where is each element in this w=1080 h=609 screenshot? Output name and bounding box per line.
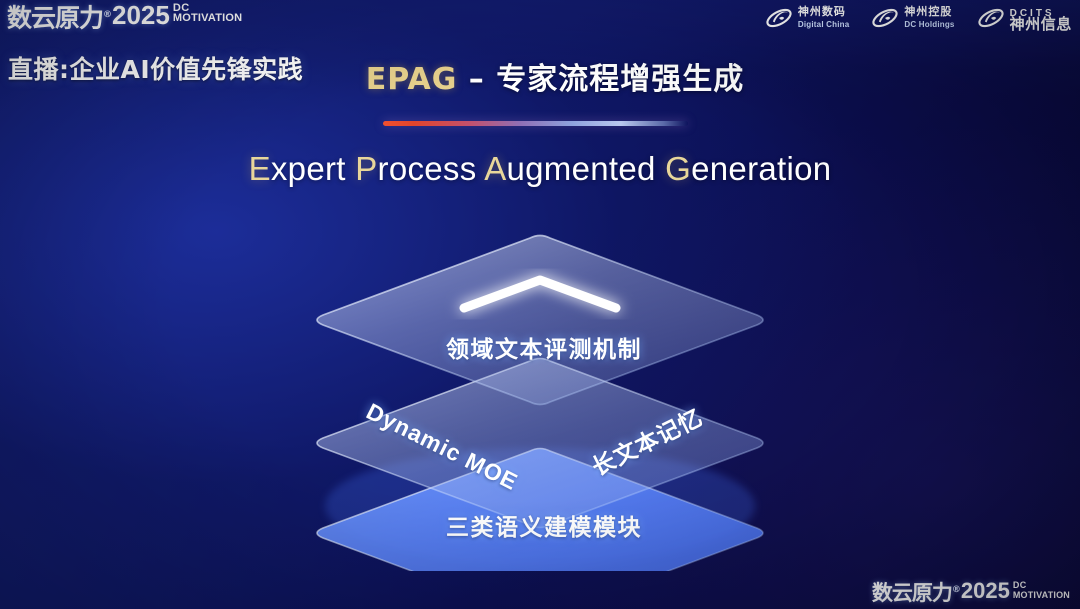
watermark-year: 2025 [961, 579, 1010, 602]
brand-dc-motivation: DC MOTIVATION [173, 3, 242, 23]
subtitle-body: eneration [691, 150, 831, 187]
logo-digital-china: 神州数码 Digital China [765, 4, 850, 32]
subtitle-body: ugmented [507, 150, 666, 187]
layer-bottom-label: 三类语义建模模块 [446, 508, 642, 542]
footer-watermark: 数云原力® 2025 DC MOTIVATION [872, 579, 1070, 605]
subtitle-body: xpert [271, 150, 355, 187]
logo-text-group: 神州控股 DC Holdings [904, 6, 954, 30]
watermark-dc-motivation: DC MOTIVATION [1013, 580, 1070, 600]
logo-text-group: DCITS 神州信息 [1010, 7, 1072, 30]
slide-title-accent: EPAG [366, 62, 458, 97]
watermark-dc-line2: MOTIVATION [1013, 590, 1070, 600]
partner-logo-row: 神州数码 Digital China 神州控股 DC Holdings [765, 4, 1072, 32]
registered-mark: ® [103, 10, 111, 20]
subtitle-word: Expert [249, 150, 356, 187]
watermark-dc-line1: DC [1013, 580, 1070, 590]
subtitle-initial: A [484, 150, 506, 187]
slide-canvas: 数云原力® 2025 DC MOTIVATION 直播:企业AI价值先锋实践 神… [0, 0, 1080, 609]
registered-mark: ® [952, 585, 960, 595]
slide-title-rest: – 专家流程增强生成 [457, 62, 744, 97]
brand-dc-line2: MOTIVATION [173, 13, 242, 23]
logo-name-en: DC Holdings [904, 19, 954, 30]
layer-top-label: 领域文本评测机制 [446, 330, 642, 364]
slide-subtitle: Expert Process Augmented Generation [0, 150, 1080, 188]
swirl-logo-icon [871, 4, 899, 32]
subtitle-initial: G [665, 150, 691, 187]
subtitle-word: Augmented [484, 150, 665, 187]
swirl-logo-icon [977, 4, 1005, 32]
logo-name-cn: 神州数码 [798, 6, 850, 17]
layer-top [317, 236, 763, 405]
logo-name-cn: 神州信息 [1010, 19, 1072, 30]
logo-name-cn: 神州控股 [904, 6, 954, 17]
logo-dc-holdings: 神州控股 DC Holdings [871, 4, 954, 32]
slide-title: EPAG – 专家流程增强生成 [0, 54, 1080, 98]
title-divider [383, 121, 688, 126]
brand-year: 2025 [112, 2, 170, 29]
watermark-name-cn: 数云原力® [872, 579, 960, 605]
brand-lockup: 数云原力® 2025 DC MOTIVATION [7, 2, 242, 31]
subtitle-initial: E [249, 150, 271, 187]
logo-dcits: DCITS 神州信息 [977, 4, 1072, 32]
subtitle-body: rocess [378, 150, 485, 187]
swirl-logo-icon [765, 4, 793, 32]
logo-text-group: 神州数码 Digital China [798, 6, 850, 30]
subtitle-word: Process [355, 150, 484, 187]
logo-name-en: Digital China [798, 19, 850, 30]
brand-name-cn: 数云原力® [7, 2, 111, 31]
subtitle-initial: P [355, 150, 377, 187]
subtitle-word: Generation [665, 150, 831, 187]
